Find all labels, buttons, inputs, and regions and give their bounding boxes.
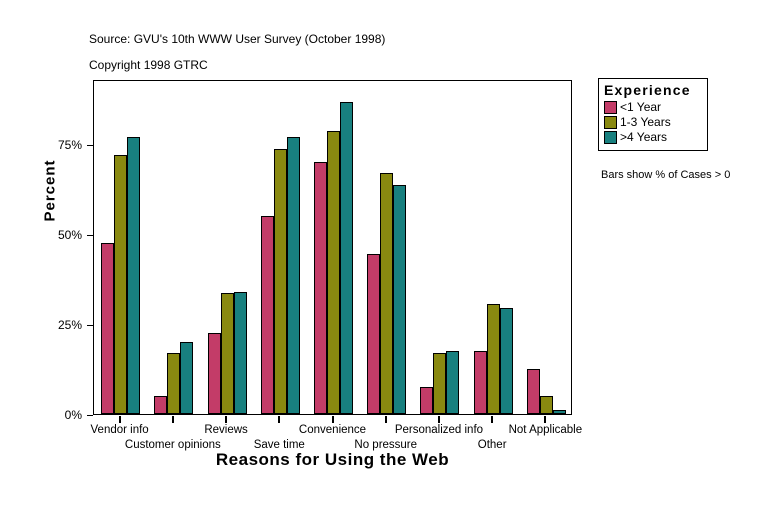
bar: [127, 137, 140, 414]
bar: [261, 216, 274, 414]
bar: [446, 351, 459, 414]
bar: [433, 353, 446, 414]
x-tick: [491, 416, 493, 423]
plot-frame: [93, 80, 572, 415]
bar: [167, 353, 180, 414]
bar: [327, 131, 340, 414]
x-tick: [172, 416, 174, 423]
bar: [553, 410, 566, 414]
bar: [500, 308, 513, 414]
bar: [474, 351, 487, 414]
bar: [208, 333, 221, 414]
legend-item: 1-3 Years: [604, 115, 702, 129]
bar: [221, 293, 234, 414]
x-tick-label: Personalized info: [395, 424, 483, 436]
x-tick-label: Reviews: [204, 424, 247, 436]
legend-item-label: <1 Year: [620, 100, 661, 114]
bar: [114, 155, 127, 414]
legend-swatch: [604, 116, 617, 129]
bar: [540, 396, 553, 414]
x-tick-label: Convenience: [299, 424, 366, 436]
x-tick: [544, 416, 546, 423]
x-tick: [385, 416, 387, 423]
copyright-note: Copyright 1998 GTRC: [89, 58, 208, 72]
x-tick: [225, 416, 227, 423]
legend-swatch: [604, 101, 617, 114]
legend-item: <1 Year: [604, 100, 702, 114]
bar: [314, 162, 327, 414]
y-tick: [87, 415, 93, 416]
bar: [274, 149, 287, 414]
y-tick-label: 25%: [22, 319, 82, 331]
legend-items: <1 Year1-3 Years>4 Years: [604, 100, 702, 144]
legend-title: Experience: [604, 82, 702, 98]
bar: [393, 185, 406, 414]
legend-footnote: Bars show % of Cases > 0: [601, 169, 730, 181]
bar: [234, 292, 247, 414]
x-axis-title: Reasons for Using the Web: [93, 450, 572, 470]
plot-area: [94, 81, 571, 414]
legend-item-label: 1-3 Years: [620, 115, 671, 129]
bar: [154, 396, 167, 414]
bar: [180, 342, 193, 414]
legend: Experience <1 Year1-3 Years>4 Years: [598, 78, 708, 151]
x-tick: [119, 416, 121, 423]
legend-item: >4 Years: [604, 130, 702, 144]
x-tick: [332, 416, 334, 423]
x-tick: [438, 416, 440, 423]
legend-swatch: [604, 131, 617, 144]
bar: [367, 254, 380, 414]
y-tick-label: 50%: [22, 229, 82, 241]
bar: [487, 304, 500, 414]
y-tick-label: 75%: [22, 139, 82, 151]
y-tick-label: 0%: [22, 409, 82, 421]
x-tick-label: Vendor info: [91, 424, 149, 436]
x-tick-label: Not Applicable: [509, 424, 583, 436]
x-tick: [278, 416, 280, 423]
bar: [101, 243, 114, 414]
source-note: Source: GVU's 10th WWW User Survey (Octo…: [89, 32, 385, 46]
bar: [287, 137, 300, 414]
bar: [340, 102, 353, 414]
bar: [380, 173, 393, 414]
legend-item-label: >4 Years: [620, 130, 667, 144]
bar: [527, 369, 540, 414]
bar: [420, 387, 433, 414]
